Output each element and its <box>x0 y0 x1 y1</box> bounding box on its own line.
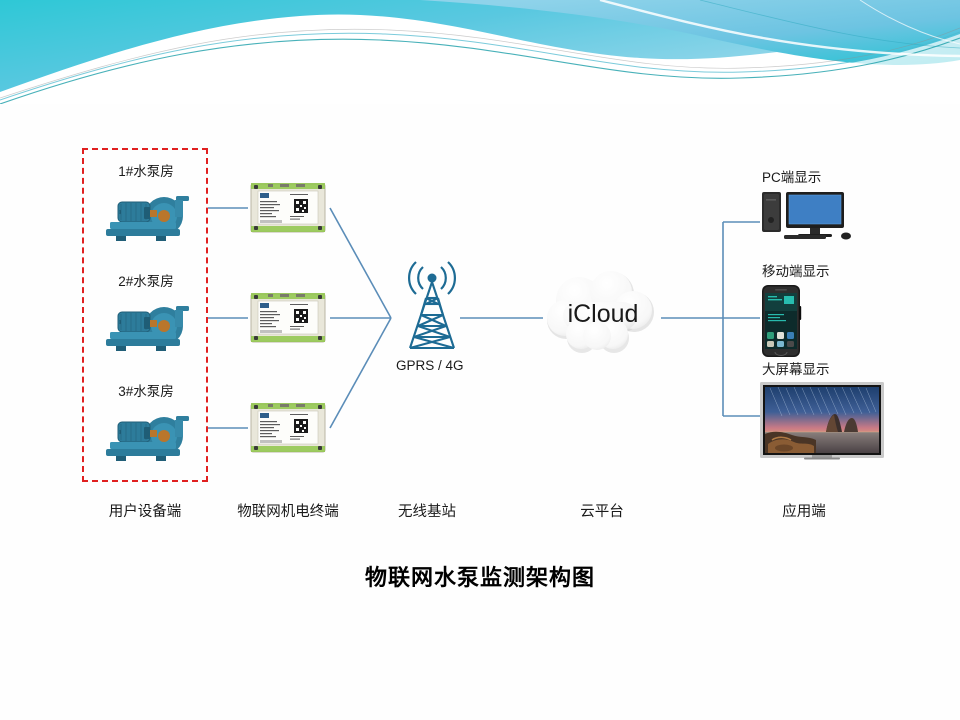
application-node-pc[interactable]: PC端显示 <box>760 166 854 247</box>
application-label-largescreen: 大屏幕显示 <box>760 358 884 378</box>
pump-label-3: 3#水泵房 <box>90 380 202 400</box>
pump-node-1[interactable]: 1#水泵房 <box>90 160 202 253</box>
pump-node-2[interactable]: 2#水泵房 <box>90 270 202 363</box>
application-node-largescreen[interactable]: 大屏幕显示 <box>760 358 884 465</box>
large-screen-display-icon <box>760 382 884 460</box>
base-station-label: GPRS / 4G <box>396 358 464 373</box>
slide: 1#水泵房 <box>0 0 960 720</box>
smartphone-icon <box>760 284 802 358</box>
iot-terminal-node-2[interactable] <box>250 290 326 351</box>
application-node-mobile[interactable]: 移动端显示 <box>760 260 830 363</box>
application-label-mobile: 移动端显示 <box>760 260 830 280</box>
stage-label-application: 应用端 <box>748 500 860 521</box>
iot-terminal-node-1[interactable] <box>250 180 326 241</box>
figure-caption: 物联网水泵监测架构图 <box>0 560 960 592</box>
architecture-diagram: 1#水泵房 <box>0 104 960 720</box>
application-label-pc: PC端显示 <box>760 166 854 186</box>
stage-label-iot-terminal: 物联网机电终端 <box>218 500 358 521</box>
diagram-canvas: 1#水泵房 <box>0 104 960 720</box>
iot-terminal-device-icon <box>250 400 326 456</box>
stage-label-user-equipment: 用户设备端 <box>82 500 208 521</box>
pump-label-1: 1#水泵房 <box>90 160 202 180</box>
pump-label-2: 2#水泵房 <box>90 270 202 290</box>
iot-terminal-device-icon <box>250 290 326 346</box>
pump-node-3[interactable]: 3#水泵房 <box>90 380 202 473</box>
cell-tower-icon <box>390 248 474 360</box>
cloud-platform-label: iCloud <box>560 300 646 329</box>
header-banner-decoration <box>0 0 960 104</box>
water-pump-icon <box>96 406 196 468</box>
water-pump-icon <box>96 186 196 248</box>
base-station-node[interactable] <box>390 248 474 365</box>
iot-terminal-device-icon <box>250 180 326 236</box>
water-pump-icon <box>96 296 196 358</box>
iot-terminal-node-3[interactable] <box>250 400 326 461</box>
stage-label-base-station: 无线基站 <box>372 500 482 521</box>
stage-label-cloud-platform: 云平台 <box>546 500 658 521</box>
desktop-computer-icon <box>760 190 854 242</box>
